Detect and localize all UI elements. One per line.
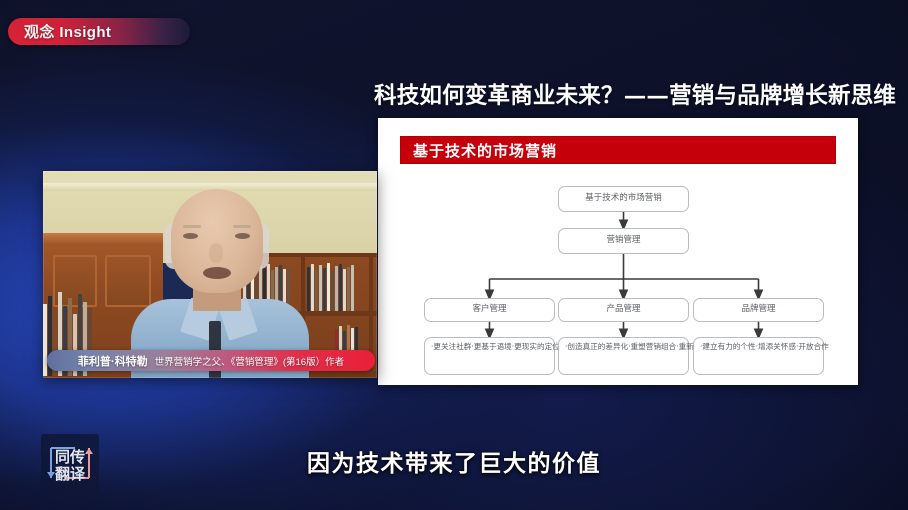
flow-list-item: ·更基于语境 xyxy=(471,342,511,352)
speaker-video-tile[interactable] xyxy=(43,171,377,378)
flow-node-marketing-management: 营销管理 xyxy=(558,228,689,254)
brand-badge-label: 观念 Insight xyxy=(24,21,111,42)
flow-list-item: ·更关注社群 xyxy=(431,342,471,352)
slide-panel: 基于技术的市场营销 基于技术的市场营销 营销管理 xyxy=(378,118,858,385)
slide-title: 科技如何变革商业未来？——营销与品牌增长新思维 xyxy=(374,78,886,110)
flow-list-item: ·开放合作 xyxy=(796,342,829,352)
video-scene xyxy=(43,171,377,378)
speaker-name: 菲利普·科特勒 xyxy=(78,353,148,369)
speaker-name-bar: 菲利普·科特勒 世界营销学之父、《营销管理》(第16版）作者 xyxy=(47,350,375,371)
flow-list-item: ·更现实的定位 xyxy=(512,342,560,352)
flow-list-item: ·创造真正的差异化 xyxy=(565,342,628,352)
presentation-stage: 观念 Insight 科技如何变革商业未来？——营销与品牌增长新思维 基于技术的… xyxy=(0,0,908,510)
flow-list-item: ·建立有力的个性 xyxy=(700,342,756,352)
flow-list-item: ·重塑营销组合 xyxy=(628,342,676,352)
flow-node-root: 基于技术的市场营销 xyxy=(558,186,689,212)
flow-list-customer-management: ·更关注社群 ·更基于语境 ·更现实的定位 xyxy=(424,337,555,375)
subtitle-caption: 因为技术带来了巨大的价值 xyxy=(0,444,908,478)
brand-badge: 观念 Insight xyxy=(8,18,190,45)
flow-node-product-management: 产品管理 xyxy=(558,298,689,322)
flow-list-product-management: ·创造真正的差异化 ·重塑营销组合 ·重新设计销售渠道 xyxy=(558,337,689,375)
flow-node-brand-management: 品牌管理 xyxy=(693,298,824,322)
flow-list-item: ·增添关怀感 xyxy=(756,342,796,352)
speaker-role: 世界营销学之父、《营销管理》(第16版）作者 xyxy=(155,354,344,368)
flow-list-brand-management: ·建立有力的个性 ·增添关怀感 ·开放合作 xyxy=(693,337,824,375)
flow-node-customer-management: 客户管理 xyxy=(424,298,555,322)
